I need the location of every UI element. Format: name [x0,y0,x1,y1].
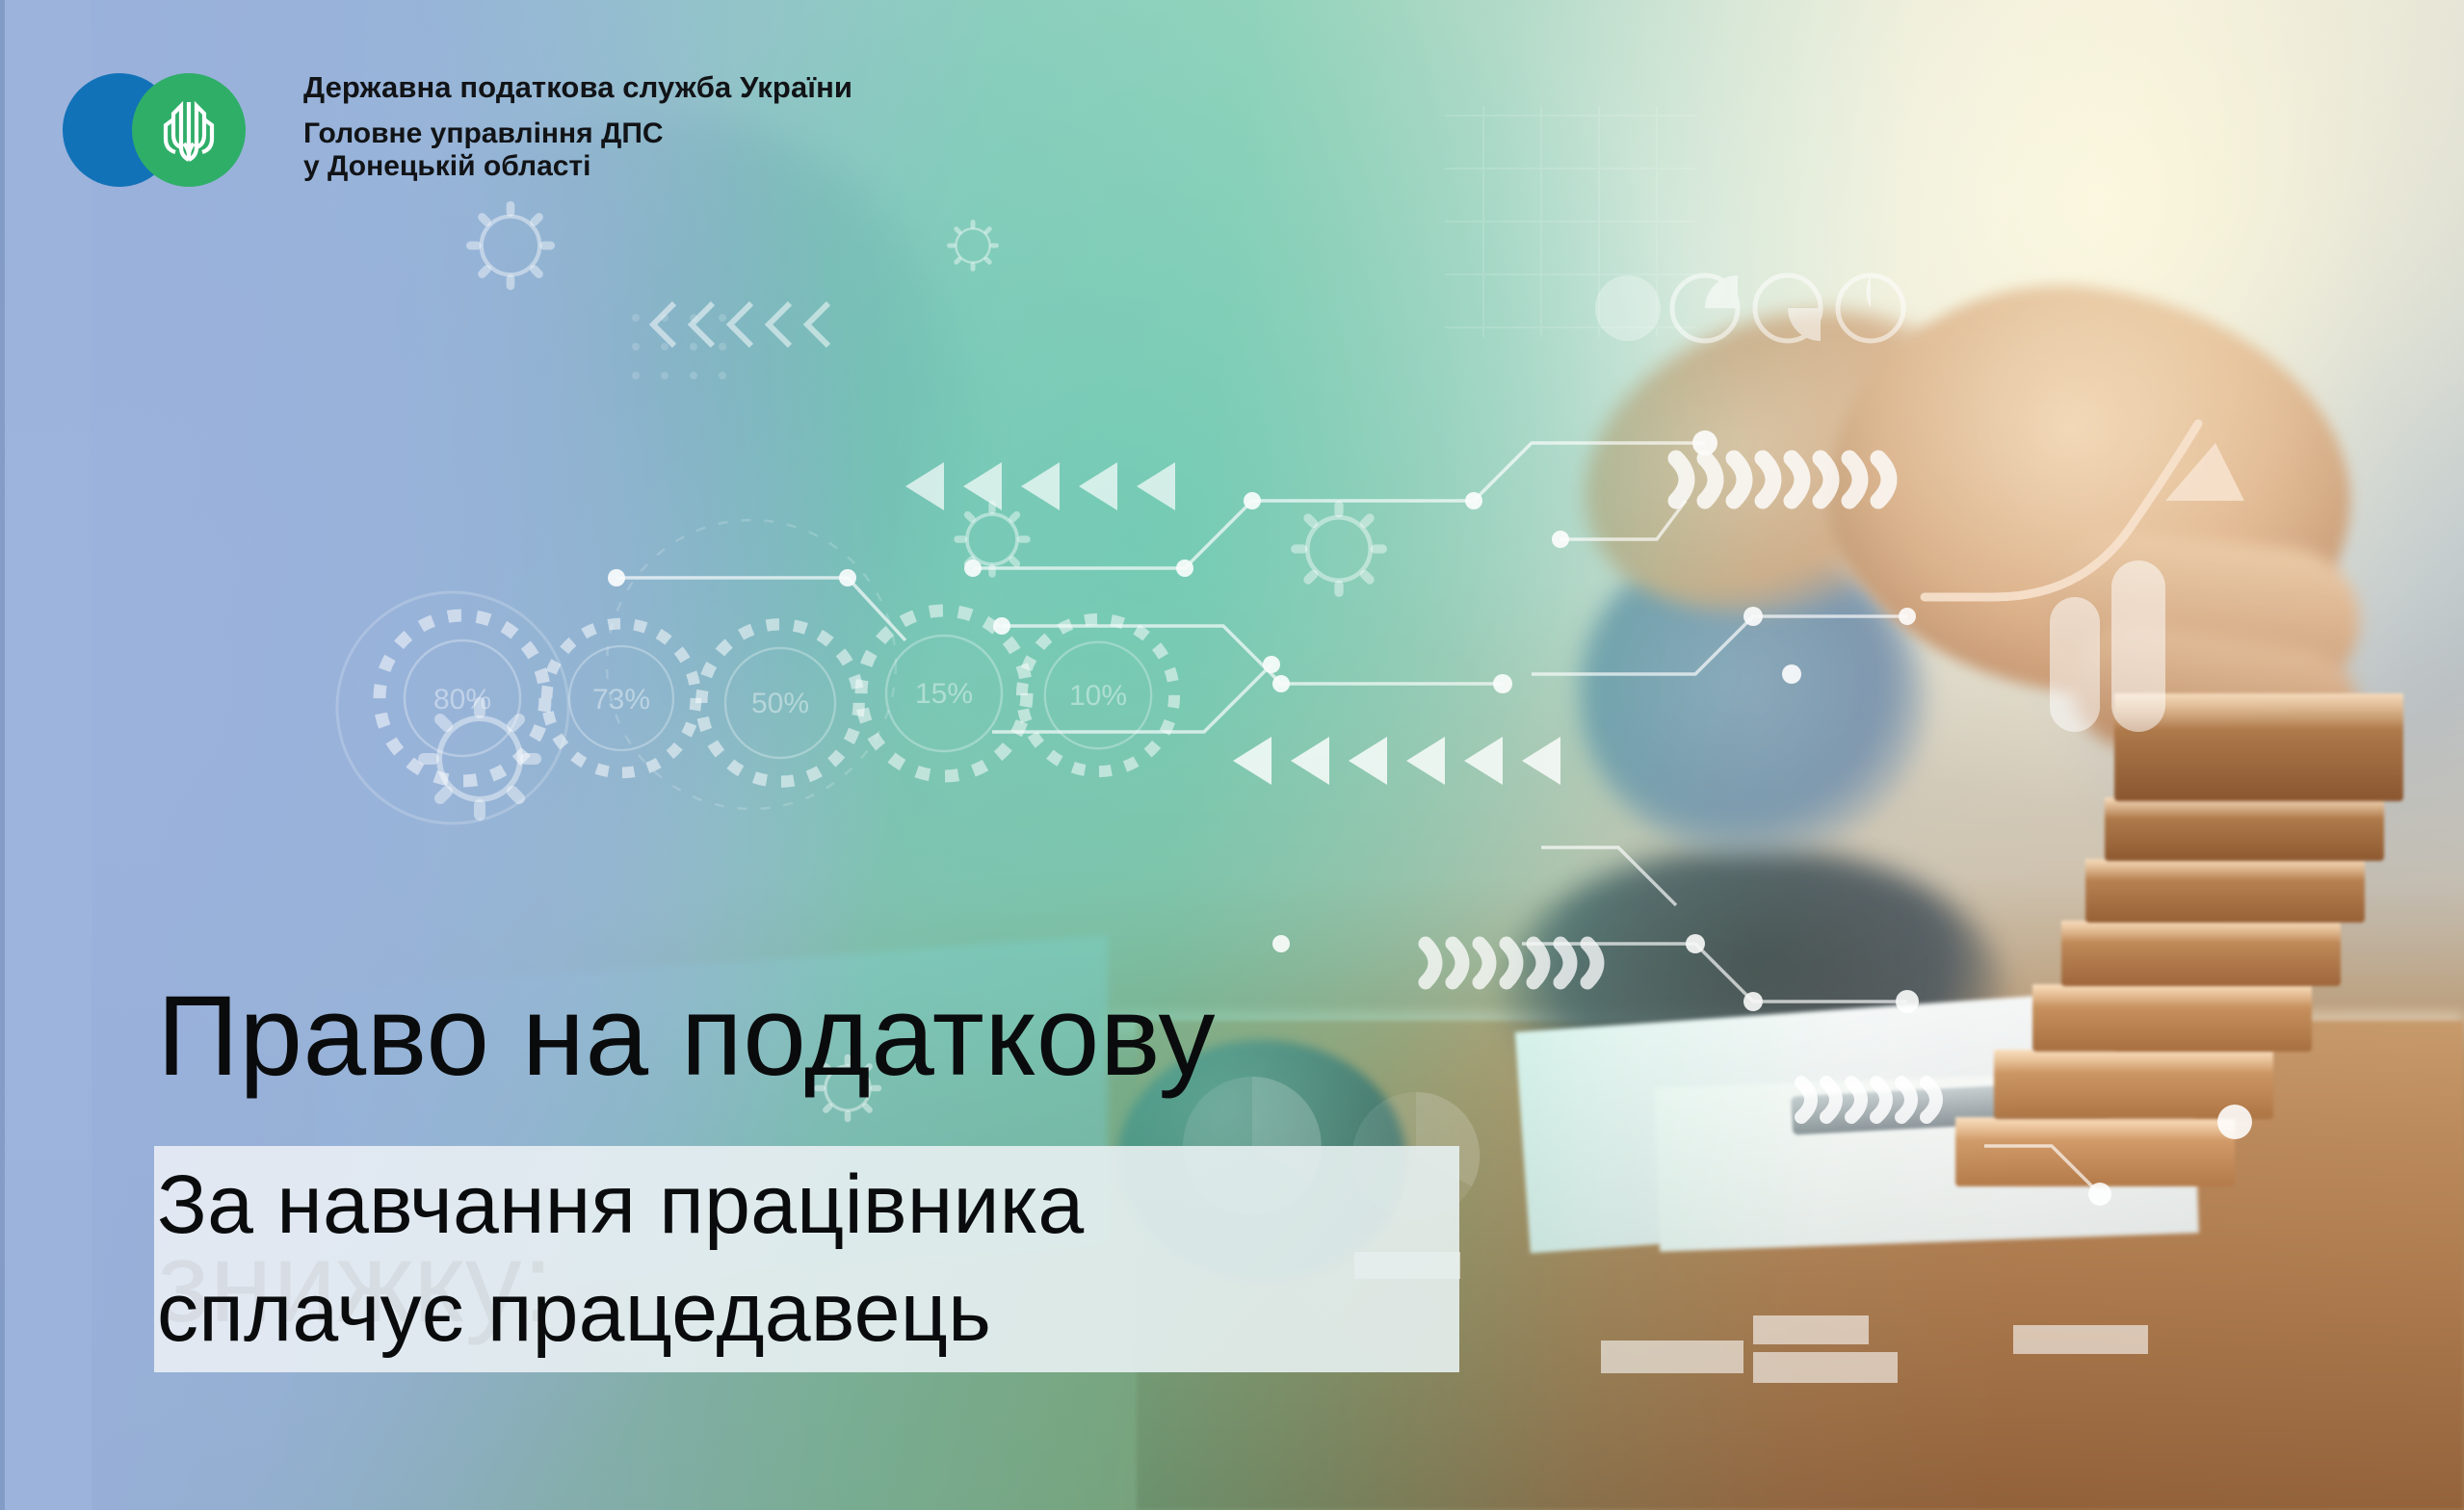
org-line-1: Державна податкова служба України [303,71,852,105]
banner-canvas: 80% 73% 50% 15% 10% [0,0,2464,1510]
ukrainian-trident-icon [159,96,219,166]
organization-header: Державна податкова служба України Головн… [63,67,852,188]
org-line-3: у Донецькій області [303,150,852,183]
left-color-strip [0,0,92,1510]
subtitle-line-2: сплачує працедавець [157,1260,1467,1367]
left-edge-rule [0,0,5,1510]
organization-name-block: Державна податкова служба України Головн… [303,67,852,183]
dps-logo [63,67,303,188]
subtitle-line-1: За навчання працівника [157,1152,1467,1260]
org-line-2: Головне управління ДПС [303,117,852,150]
subtitle: За навчання працівника сплачує працедаве… [157,1152,1467,1367]
headline-line-1: Право на податкову [157,975,1216,1098]
